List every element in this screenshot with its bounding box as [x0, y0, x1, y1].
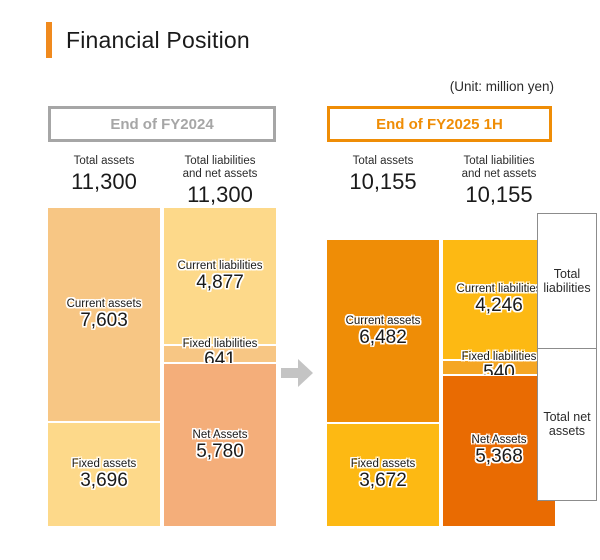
- column-header-caption: Total assets: [327, 155, 439, 168]
- column-header-liabilities-and-net-assets: Total liabilities and net assets11,300: [164, 155, 276, 207]
- bar-columns: Current assets6,482Fixed assets3,672Curr…: [327, 239, 555, 527]
- segment-label: Current assets: [346, 315, 421, 328]
- column-header-total: 11,300: [164, 182, 276, 207]
- column-header-caption: Total liabilities and net assets: [443, 155, 555, 181]
- period-label-current: End of FY2025 1H: [327, 106, 552, 142]
- title-accent-bar: [46, 22, 52, 58]
- period-label-previous: End of FY2024: [48, 106, 276, 142]
- segment-value: 3,696: [80, 471, 128, 491]
- segment-value: 7,603: [80, 311, 128, 331]
- bar-segment: Current liabilities4,877: [164, 207, 276, 345]
- column-header-assets: Total assets11,300: [48, 155, 160, 207]
- column-header-liabilities-and-net-assets: Total liabilities and net assets10,155: [443, 155, 555, 207]
- column-header-total: 10,155: [443, 182, 555, 207]
- chart-panel-current: Total assets10,155Total liabilities and …: [327, 155, 555, 527]
- column-header-caption: Total assets: [48, 155, 160, 168]
- bar-segment: Current assets6,482: [327, 239, 439, 423]
- segment-value: 6,482: [359, 328, 407, 348]
- segment-value: 4,877: [196, 273, 244, 293]
- bracket-total-liabilities: Total liabilities: [537, 213, 597, 349]
- segment-value: 3,672: [359, 471, 407, 491]
- segment-label: Net Assets: [193, 429, 248, 442]
- page-header: Financial Position: [46, 22, 250, 58]
- transition-arrow-icon: [279, 356, 315, 390]
- bar-segment: Current assets7,603: [48, 207, 160, 422]
- segment-value: 4,246: [475, 296, 523, 316]
- unit-note: (Unit: million yen): [450, 79, 554, 94]
- column-headers: Total assets10,155Total liabilities and …: [327, 155, 555, 207]
- column-header-total: 10,155: [327, 169, 439, 194]
- segment-value: 5,780: [196, 442, 244, 462]
- column-header-assets: Total assets10,155: [327, 155, 439, 207]
- column-header-total: 11,300: [48, 169, 160, 194]
- page-title: Financial Position: [66, 27, 250, 54]
- bar-segment: Fixed assets3,672: [327, 423, 439, 527]
- segment-value: 5,368: [475, 447, 523, 467]
- chart-panel-previous: Total assets11,300Total liabilities and …: [48, 155, 276, 527]
- bar-segment: Fixed assets3,696: [48, 422, 160, 527]
- column-header-caption: Total liabilities and net assets: [164, 155, 276, 181]
- bar-column-liabilities-and-net-assets: Current liabilities4,877Fixed liabilitie…: [164, 207, 276, 527]
- bar-column-assets: Current assets6,482Fixed assets3,672: [327, 239, 439, 527]
- bar-segment: Net Assets5,780: [164, 363, 276, 527]
- bar-segment: Fixed liabilities641: [164, 345, 276, 363]
- bar-columns: Current assets7,603Fixed assets3,696Curr…: [48, 207, 276, 527]
- segment-label: Current liabilities: [177, 260, 262, 273]
- bracket-group: Total liabilitiesTotal net assets: [537, 213, 597, 501]
- bracket-total-net-assets: Total net assets: [537, 349, 597, 501]
- bar-column-assets: Current assets7,603Fixed assets3,696: [48, 207, 160, 527]
- column-headers: Total assets11,300Total liabilities and …: [48, 155, 276, 207]
